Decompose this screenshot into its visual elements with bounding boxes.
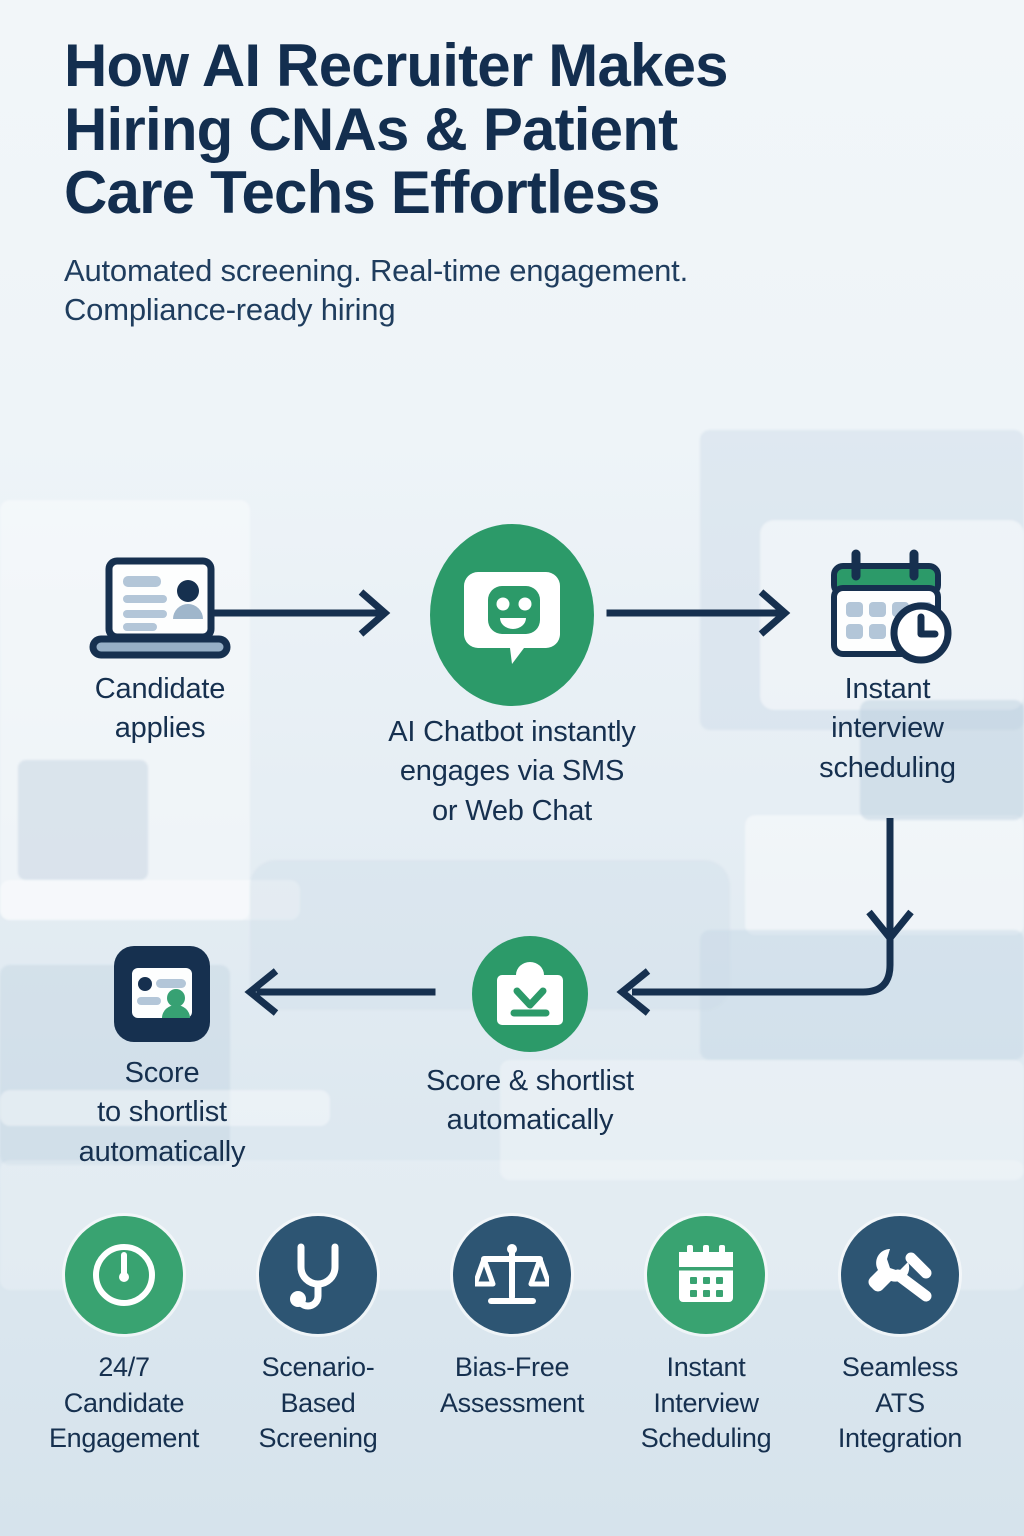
flow-step-caption: Score to shortlist automatically bbox=[46, 1054, 278, 1172]
feature-label-line-2: ATS bbox=[875, 1388, 925, 1418]
feature-label-line-3: Integration bbox=[838, 1423, 962, 1453]
caption-line-2: engages via SMS bbox=[400, 755, 624, 787]
title-line-2: Hiring CNAs & Patient bbox=[64, 96, 677, 163]
chatbot-face-icon bbox=[430, 524, 594, 706]
caption-line-1: AI Chatbot instantly bbox=[388, 716, 635, 748]
feature-ats[interactable]: Seamless ATS Integration bbox=[814, 1216, 986, 1457]
feature-label-line-1: Seamless bbox=[842, 1352, 958, 1382]
caption-line-1: Score bbox=[125, 1057, 200, 1089]
scales-icon bbox=[453, 1216, 571, 1334]
stethoscope-icon bbox=[259, 1216, 377, 1334]
title-line-1: How AI Recruiter Makes bbox=[64, 32, 728, 99]
feature-label-line-2: Assessment bbox=[440, 1388, 584, 1418]
feature-label: Scenario- Based Screening bbox=[232, 1350, 404, 1457]
feature-label-line-1: Scenario- bbox=[262, 1352, 375, 1382]
feature-label-line-2: Candidate bbox=[64, 1388, 184, 1418]
page-subtitle: Automated screening. Real-time engagemen… bbox=[64, 251, 984, 330]
subtitle-line-1: Automated screening. Real-time engagemen… bbox=[64, 253, 688, 288]
feature-label-line-1: 24/7 bbox=[98, 1352, 149, 1382]
feature-assessment[interactable]: Bias-Free Assessment bbox=[426, 1216, 598, 1457]
flow-step-ai-chatbot[interactable]: AI Chatbot instantly engages via SMS or … bbox=[380, 522, 644, 831]
feature-label-line-1: Instant bbox=[667, 1352, 746, 1382]
laptop-resume-icon bbox=[60, 555, 260, 670]
feature-label-line-3: Screening bbox=[259, 1423, 378, 1453]
flow-step-interview-scheduling[interactable]: Instant interview scheduling bbox=[790, 548, 985, 788]
caption-line-2: to shortlist bbox=[97, 1096, 227, 1128]
feature-label: Seamless ATS Integration bbox=[814, 1350, 986, 1457]
caption-line-1: Score & shortlist bbox=[426, 1065, 634, 1097]
feature-engagement[interactable]: 24/7 Candidate Engagement bbox=[38, 1216, 210, 1457]
feature-label-line-2: Interview bbox=[653, 1388, 758, 1418]
flow-step-score-to-shortlist[interactable]: Score to shortlist automatically bbox=[46, 934, 278, 1172]
caption-line-1: Instant bbox=[845, 673, 931, 705]
calendar-icon bbox=[647, 1216, 765, 1334]
feature-label: 24/7 Candidate Engagement bbox=[38, 1350, 210, 1457]
flow-step-caption: Instant interview scheduling bbox=[790, 670, 985, 788]
caption-line-2: interview bbox=[831, 712, 944, 744]
scorecard-profile-icon bbox=[46, 934, 278, 1054]
feature-label-line-3: Engagement bbox=[49, 1423, 199, 1453]
caption-line-3: automatically bbox=[79, 1136, 246, 1168]
caption-line-2: applies bbox=[115, 712, 206, 744]
feature-screening[interactable]: Scenario- Based Screening bbox=[232, 1216, 404, 1457]
feature-row: 24/7 Candidate Engagement Scenario- Base… bbox=[0, 1216, 1024, 1457]
header-block: How AI Recruiter Makes Hiring CNAs & Pat… bbox=[64, 34, 984, 330]
caption-line-3: scheduling bbox=[819, 752, 956, 784]
feature-scheduling[interactable]: Instant Interview Scheduling bbox=[620, 1216, 792, 1457]
infographic-canvas: How AI Recruiter Makes Hiring CNAs & Pat… bbox=[0, 0, 1024, 1536]
flow-step-candidate-applies[interactable]: Candidate applies bbox=[60, 555, 260, 749]
page-title: How AI Recruiter Makes Hiring CNAs & Pat… bbox=[64, 34, 984, 225]
calendar-clock-icon bbox=[790, 548, 985, 670]
feature-label: Instant Interview Scheduling bbox=[620, 1350, 792, 1457]
title-line-3: Care Techs Effortless bbox=[64, 159, 660, 226]
clock-icon bbox=[65, 1216, 183, 1334]
flow-step-caption: AI Chatbot instantly engages via SMS or … bbox=[380, 713, 644, 831]
feature-label-line-1: Bias-Free bbox=[455, 1352, 569, 1382]
flow-step-caption: Candidate applies bbox=[60, 670, 260, 749]
caption-line-1: Candidate bbox=[95, 673, 225, 705]
tools-icon bbox=[841, 1216, 959, 1334]
caption-line-2: automatically bbox=[447, 1104, 614, 1136]
feature-label-line-2: Based bbox=[280, 1388, 355, 1418]
flow-step-caption: Score & shortlist automatically bbox=[400, 1062, 660, 1141]
feature-label-line-3: Scheduling bbox=[641, 1423, 772, 1453]
flow-step-score-shortlist-auto[interactable]: Score & shortlist automatically bbox=[400, 932, 660, 1141]
clipboard-check-icon bbox=[472, 936, 588, 1052]
caption-line-3: or Web Chat bbox=[432, 795, 592, 827]
subtitle-line-2: Compliance-ready hiring bbox=[64, 292, 395, 327]
feature-label: Bias-Free Assessment bbox=[426, 1350, 598, 1421]
